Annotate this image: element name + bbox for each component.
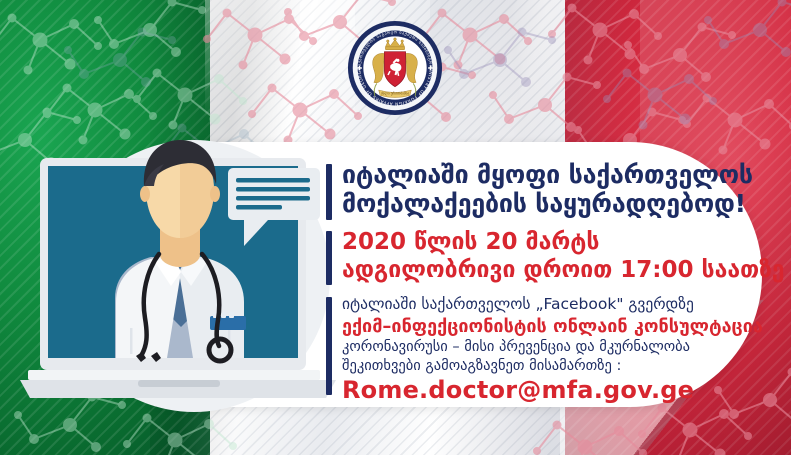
poster-canvas: საქართველოს საგარეო საქმეთა სამინისტრო M… [0,0,791,455]
body-line-4: შეკითხვები გამოაგზავნეთ მისამართზე : [342,357,766,376]
body-line-2: ექიმ–ინფექციონისტის ონლაინ კონსულტაცია [342,315,766,338]
laptop-trackpad [138,380,220,387]
date-line-1: 2020 წლის 20 მარტს [342,228,766,256]
announcement-text-block: იტალიაში მყოფი საქართველოს მოქალაქეების … [326,160,766,405]
body-line-1: იტალიაში საქართველოს „Facebook" გვერდზე [342,295,766,315]
body-line-3: კორონავირუსი – მისი პრევენცია და მკურნალ… [342,338,766,357]
title-group: იტალიაში მყოფი საქართველოს მოქალაქეების … [326,160,766,218]
accent-bar-date [326,231,332,285]
online-doctor-illustration [20,128,340,428]
title-line-2: მოქალაქეების საყურადღებოდ! [342,189,766,218]
date-group: 2020 წლის 20 მარტს ადგილობრივი დროით 17:… [326,228,766,284]
laptop-hinge [28,370,320,380]
body-group: იტალიაში საქართველოს „Facebook" გვერდზე … [326,295,766,405]
accent-bar-title [326,164,332,220]
ministry-emblem-icon: საქართველოს საგარეო საქმეთა სამინისტრო M… [347,20,443,116]
contact-email[interactable]: Rome.doctor@mfa.gov.ge [342,376,766,405]
title-line-1: იტალიაში მყოფი საქართველოს [342,160,766,189]
date-line-2: ადგილობრივი დროით 17:00 საათზე [342,256,766,284]
accent-bar-body [326,297,332,395]
svg-text:ძალა ერთობაშია: ძალა ერთობაშია [381,91,409,95]
